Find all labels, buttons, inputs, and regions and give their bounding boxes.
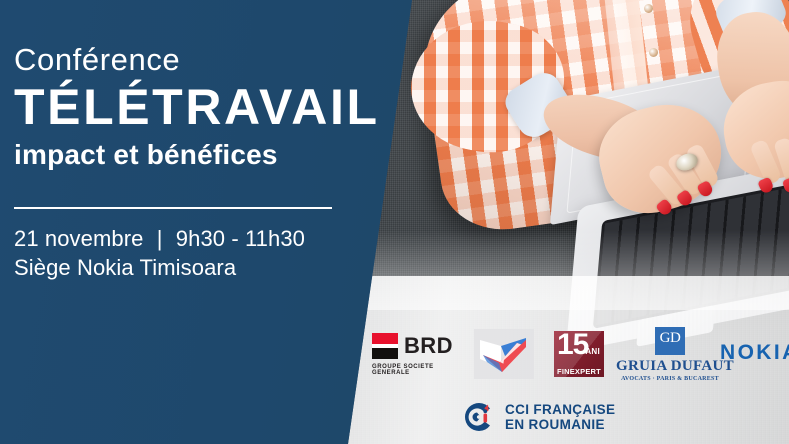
sponsor-logo-row: BRD GROUPE SOCIETE GENERALE 15 ANI FINEX… — [366, 331, 786, 385]
gruia-dufaut-monogram-icon: GD — [655, 327, 685, 355]
cci-line-1: CCI FRANÇAISE — [505, 402, 615, 417]
event-kicker: Conférence — [14, 44, 374, 77]
gruia-dufaut-tagline: AVOCATS · PARIS & BUCAREST — [616, 376, 724, 382]
brd-mark-icon — [372, 333, 398, 359]
logo-brd[interactable]: BRD GROUPE SOCIETE GENERALE — [372, 333, 472, 376]
cci-line-2: EN ROUMANIE — [505, 417, 615, 432]
logo-book-check[interactable] — [474, 329, 534, 379]
finexpert-wordmark: FINEXPERT — [554, 367, 604, 376]
gd-monogram-text: GD — [655, 330, 685, 347]
logo-gruia-dufaut[interactable]: GD GRUIA DUFAUT AVOCATS · PARIS & BUCARE… — [616, 327, 724, 382]
meta-separator: | — [150, 226, 170, 251]
event-details: 21 novembre | 9h30 - 11h30 Siège Nokia T… — [14, 224, 364, 283]
event-time: 9h30 - 11h30 — [176, 226, 305, 251]
brd-wordmark: BRD — [404, 333, 453, 359]
shirt-button — [644, 4, 653, 13]
event-venue: Siège Nokia Timisoara — [14, 253, 364, 282]
event-subtitle: impact et bénéfices — [14, 140, 374, 171]
finexpert-anniversary-unit: ANI — [585, 347, 600, 356]
cci-wordmark: CCI FRANÇAISE EN ROUMANIE — [505, 402, 615, 432]
divider-rule — [14, 207, 332, 209]
date-time-line: 21 novembre | 9h30 - 11h30 — [14, 224, 364, 253]
event-title: TÉLÉTRAVAIL — [14, 81, 374, 134]
finexpert-anniversary-number: 15 — [557, 331, 588, 362]
gruia-dufaut-wordmark: GRUIA DUFAUT — [616, 358, 724, 375]
logo-cci-francaise-en-roumanie[interactable]: CCI FRANÇAISE EN ROUMANIE — [462, 400, 615, 434]
brd-tagline: GROUPE SOCIETE GENERALE — [372, 364, 472, 376]
shirt-button — [649, 48, 658, 57]
event-date: 21 novembre — [14, 226, 144, 251]
book-check-icon — [474, 329, 534, 379]
event-banner: Conférence TÉLÉTRAVAIL impact et bénéfic… — [0, 0, 789, 444]
logo-finexpert[interactable]: 15 ANI FINEXPERT — [554, 331, 604, 377]
cci-logo-icon — [462, 400, 496, 434]
headline-block: Conférence TÉLÉTRAVAIL impact et bénéfic… — [14, 44, 374, 170]
logo-nokia[interactable]: NOKIA — [720, 341, 789, 365]
